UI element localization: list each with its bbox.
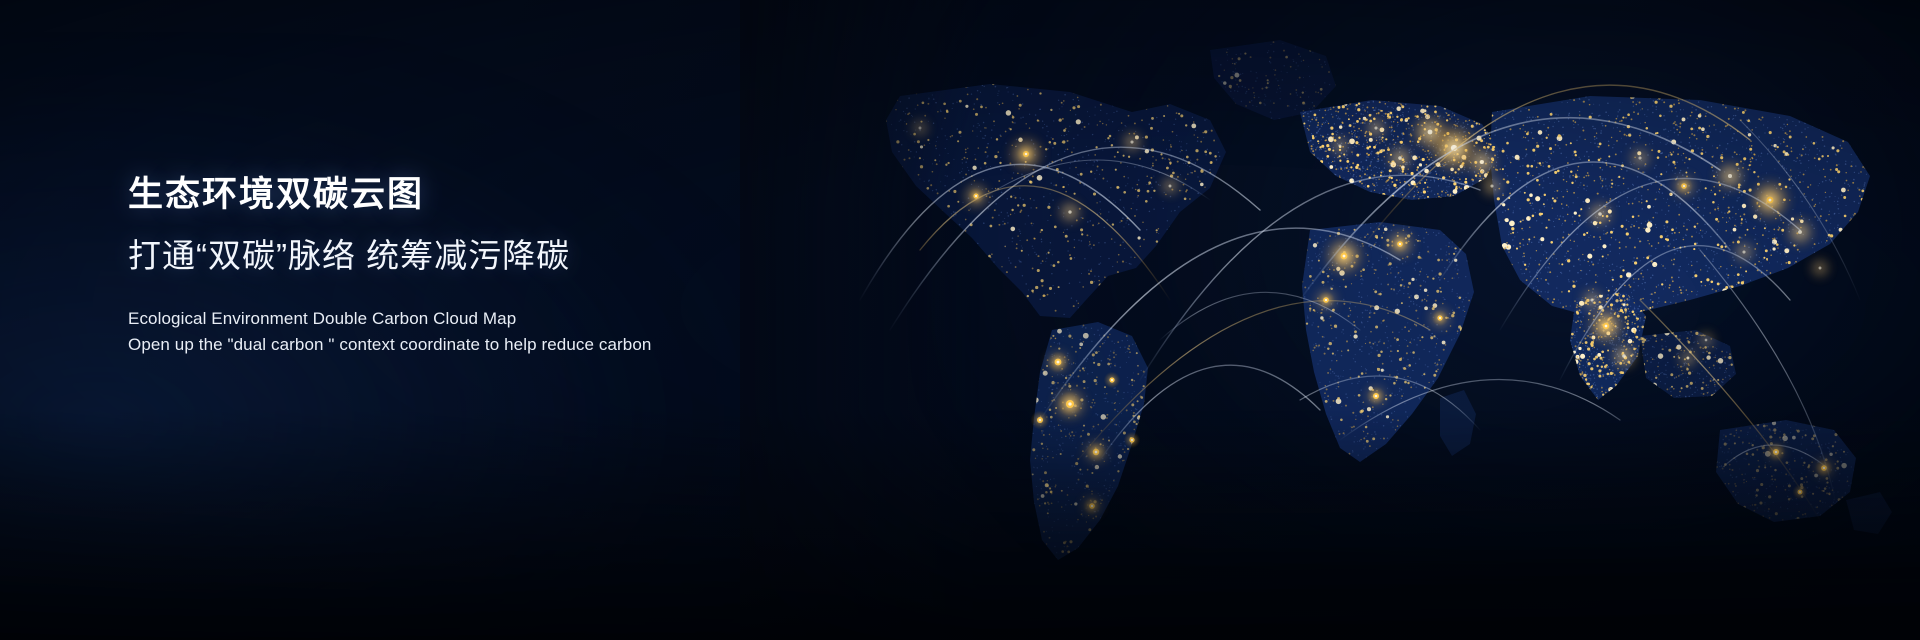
hero-copy-block: 生态环境双碳云图 打通“双碳”脉络 统筹减污降碳 Ecological Envi… — [128, 174, 828, 359]
english-subtitle-line-2: Open up the "dual carbon " context coord… — [128, 332, 828, 358]
world-map-svg — [740, 0, 1920, 640]
page-subtitle: 打通“双碳”脉络 统筹减污降碳 — [128, 235, 828, 276]
page-title: 生态环境双碳云图 — [128, 174, 828, 217]
world-night-lights-map — [740, 0, 1920, 640]
hero-banner: 生态环境双碳云图 打通“双碳”脉络 统筹减污降碳 Ecological Envi… — [0, 0, 1920, 640]
english-subtitle-line-1: Ecological Environment Double Carbon Clo… — [128, 306, 828, 332]
english-subtitle-block: Ecological Environment Double Carbon Clo… — [128, 306, 828, 359]
